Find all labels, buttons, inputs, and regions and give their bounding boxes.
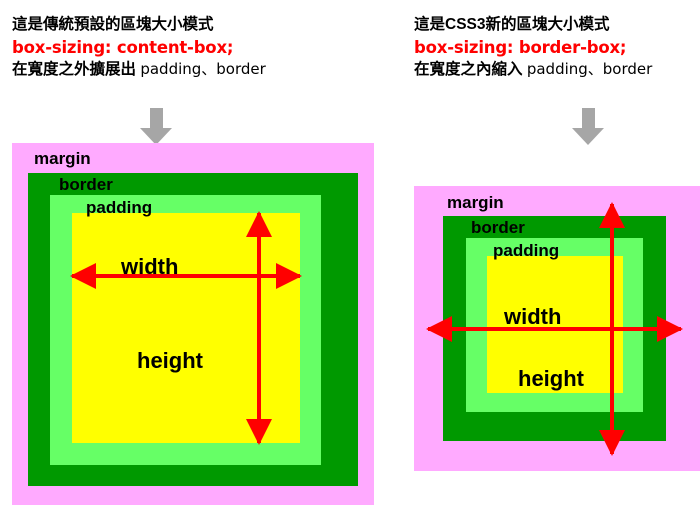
caption-line-description: 這是CSS3新的區塊大小模式 bbox=[414, 14, 652, 36]
caption-content-box: 這是傳統預設的區塊大小模式 box-sizing: content-box; 在… bbox=[12, 14, 266, 81]
down-arrow-icon bbox=[140, 108, 173, 148]
caption-line-code: box-sizing: border-box; bbox=[414, 36, 652, 59]
width-label: width bbox=[504, 304, 561, 330]
arrow-head-right bbox=[657, 316, 683, 342]
box-model-border-box: margin border padding width height bbox=[414, 186, 700, 471]
box-model-content-box: margin border padding width height bbox=[12, 143, 374, 505]
height-measure-arrow bbox=[599, 204, 625, 454]
width-label: width bbox=[121, 254, 178, 280]
margin-label: margin bbox=[34, 149, 91, 169]
padding-label: padding bbox=[86, 198, 152, 218]
caption-line-code: box-sizing: content-box; bbox=[12, 36, 266, 59]
caption-note-prefix: 在寬度之外擴展出 bbox=[12, 61, 136, 78]
caption-line-note: 在寬度之內縮入 padding、border bbox=[414, 59, 652, 81]
down-arrow-head bbox=[572, 128, 604, 145]
arrow-line bbox=[257, 213, 261, 443]
arrow-head-left bbox=[426, 316, 452, 342]
arrow-head-top bbox=[246, 211, 272, 237]
caption-line-note: 在寬度之外擴展出 padding、border bbox=[12, 59, 266, 81]
diagram-canvas: 這是傳統預設的區塊大小模式 box-sizing: content-box; 在… bbox=[0, 0, 700, 514]
height-label: height bbox=[518, 366, 584, 392]
down-arrow-shaft bbox=[150, 108, 163, 130]
arrow-head-bottom bbox=[599, 430, 625, 456]
caption-note-code: padding、border bbox=[527, 60, 652, 78]
caption-border-box: 這是CSS3新的區塊大小模式 box-sizing: border-box; 在… bbox=[414, 14, 652, 81]
padding-label: padding bbox=[493, 241, 559, 261]
caption-note-prefix: 在寬度之內縮入 bbox=[414, 61, 523, 78]
border-label: border bbox=[471, 218, 525, 238]
arrow-line bbox=[610, 204, 614, 454]
caption-note-code: padding、border bbox=[140, 60, 265, 78]
margin-label: margin bbox=[447, 193, 504, 213]
caption-line-description: 這是傳統預設的區塊大小模式 bbox=[12, 14, 266, 36]
down-arrow-shaft bbox=[582, 108, 595, 130]
border-label: border bbox=[59, 175, 113, 195]
height-measure-arrow bbox=[246, 213, 272, 443]
arrow-head-bottom bbox=[246, 419, 272, 445]
arrow-head-left bbox=[70, 263, 96, 289]
arrow-head-top bbox=[599, 202, 625, 228]
arrow-head-right bbox=[276, 263, 302, 289]
height-label: height bbox=[137, 348, 203, 374]
down-arrow-icon bbox=[572, 108, 605, 148]
